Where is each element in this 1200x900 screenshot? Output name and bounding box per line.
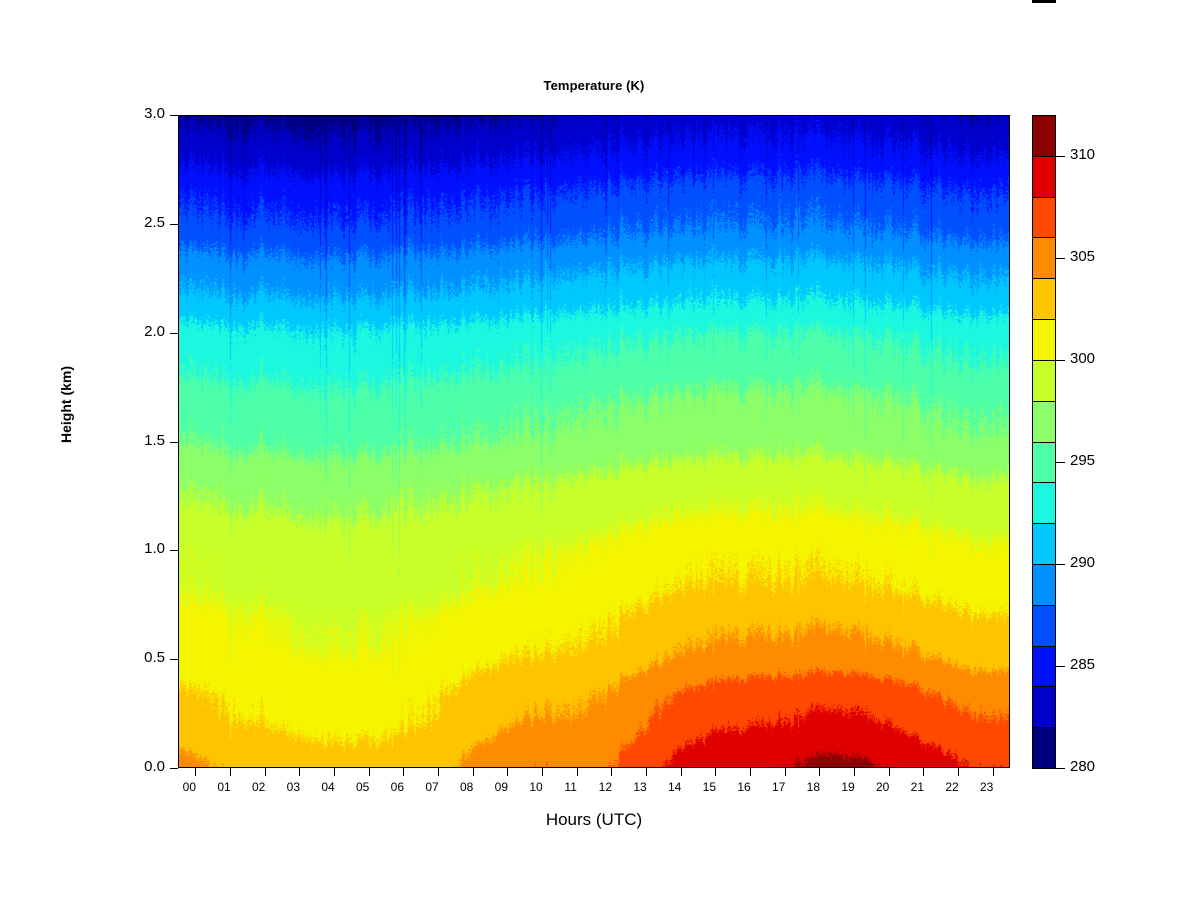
colorbar-band xyxy=(1032,319,1056,361)
x-axis-tick xyxy=(230,768,231,776)
x-axis-tick-label: 03 xyxy=(287,780,300,794)
x-axis-tick xyxy=(750,768,751,776)
colorbar-tick-label: 310 xyxy=(1070,146,1095,163)
colorbar-tick xyxy=(1056,666,1065,667)
x-axis-tick-label: 21 xyxy=(911,780,924,794)
x-axis-tick xyxy=(923,768,924,776)
x-axis-tick-label: 11 xyxy=(564,780,576,794)
y-axis-title: Height (km) xyxy=(58,366,74,443)
top-edge-artifact xyxy=(1032,0,1056,3)
x-axis-tick-label: 17 xyxy=(772,780,785,794)
x-axis-tick xyxy=(542,768,543,776)
colorbar-tick xyxy=(1056,360,1065,361)
colorbar-tick xyxy=(1056,258,1065,259)
x-axis-tick xyxy=(993,768,994,776)
x-axis-tick-label: 06 xyxy=(391,780,404,794)
colorbar-tick xyxy=(1056,768,1065,769)
x-axis-tick-label: 01 xyxy=(217,780,230,794)
colorbar-band xyxy=(1032,442,1056,484)
x-axis-tick xyxy=(265,768,266,776)
colorbar-band xyxy=(1032,727,1056,769)
x-axis-tick-label: 04 xyxy=(321,780,334,794)
colorbar-tick-label: 300 xyxy=(1070,350,1095,367)
colorbar-band xyxy=(1032,646,1056,688)
x-axis-tick xyxy=(473,768,474,776)
figure-canvas: Temperature (K) 0.00.51.01.52.02.53.0 He… xyxy=(0,0,1200,900)
x-axis-tick-label: 18 xyxy=(807,780,820,794)
colorbar xyxy=(1032,115,1056,768)
x-axis-tick xyxy=(403,768,404,776)
colorbar-band xyxy=(1032,237,1056,279)
x-axis-tick xyxy=(785,768,786,776)
colorbar-tick xyxy=(1056,156,1065,157)
x-axis-tick-label: 07 xyxy=(425,780,438,794)
x-axis-tick xyxy=(819,768,820,776)
x-axis-tick-label: 09 xyxy=(495,780,508,794)
colorbar-tick xyxy=(1056,564,1065,565)
colorbar-tick-label: 290 xyxy=(1070,554,1095,571)
y-axis-tick xyxy=(170,659,178,660)
x-axis-tick xyxy=(369,768,370,776)
x-axis-title: Hours (UTC) xyxy=(178,810,1010,830)
colorbar-band xyxy=(1032,523,1056,565)
y-axis-tick xyxy=(170,224,178,225)
x-axis-tick-label: 22 xyxy=(945,780,958,794)
x-axis-tick-label: 16 xyxy=(737,780,750,794)
y-axis: 0.00.51.01.52.02.53.0 xyxy=(0,0,178,900)
x-axis-tick-label: 05 xyxy=(356,780,369,794)
y-axis-tick-label: 1.0 xyxy=(144,540,165,557)
x-axis-tick-label: 23 xyxy=(980,780,993,794)
colorbar-band xyxy=(1032,197,1056,239)
plot-title: Temperature (K) xyxy=(178,78,1010,93)
x-axis-tick xyxy=(889,768,890,776)
x-axis-tick xyxy=(611,768,612,776)
colorbar-band xyxy=(1032,482,1056,524)
x-axis-tick xyxy=(507,768,508,776)
y-axis-tick xyxy=(170,115,178,116)
colorbar-tick-label: 295 xyxy=(1070,452,1095,469)
x-axis-tick xyxy=(854,768,855,776)
x-axis-tick xyxy=(195,768,196,776)
x-axis-tick-label: 14 xyxy=(668,780,681,794)
colorbar-tick xyxy=(1056,462,1065,463)
colorbar-band xyxy=(1032,401,1056,443)
x-axis-tick xyxy=(715,768,716,776)
temperature-heatmap xyxy=(179,116,1009,767)
colorbar-tick-label: 285 xyxy=(1070,656,1095,673)
colorbar-band xyxy=(1032,115,1056,157)
y-axis-tick xyxy=(170,550,178,551)
x-axis-tick-label: 02 xyxy=(252,780,265,794)
x-axis-tick xyxy=(681,768,682,776)
x-axis-tick-label: 08 xyxy=(460,780,473,794)
y-axis-tick-label: 2.5 xyxy=(144,214,165,231)
x-axis-tick-label: 12 xyxy=(599,780,612,794)
colorbar-band xyxy=(1032,156,1056,198)
heatmap-plot-area xyxy=(178,115,1010,768)
colorbar-band xyxy=(1032,360,1056,402)
colorbar-tick-label: 280 xyxy=(1070,758,1095,775)
x-axis-tick xyxy=(958,768,959,776)
colorbar-band xyxy=(1032,278,1056,320)
x-axis-tick-label: 13 xyxy=(633,780,646,794)
x-axis-tick-label: 10 xyxy=(529,780,542,794)
x-axis-tick xyxy=(646,768,647,776)
y-axis-tick xyxy=(170,442,178,443)
colorbar-tick-label: 305 xyxy=(1070,248,1095,265)
y-axis-tick-label: 2.0 xyxy=(144,323,165,340)
colorbar-band xyxy=(1032,605,1056,647)
y-axis-tick-label: 0.5 xyxy=(144,649,165,666)
x-axis-tick-label: 19 xyxy=(841,780,854,794)
x-axis-tick-label: 00 xyxy=(183,780,196,794)
x-axis-tick-label: 15 xyxy=(703,780,716,794)
y-axis-tick xyxy=(170,333,178,334)
y-axis-tick-label: 1.5 xyxy=(144,432,165,449)
x-axis-tick xyxy=(577,768,578,776)
x-axis-tick-label: 20 xyxy=(876,780,889,794)
x-axis-tick xyxy=(334,768,335,776)
y-axis-tick-label: 3.0 xyxy=(144,105,165,122)
colorbar-band xyxy=(1032,564,1056,606)
colorbar-band xyxy=(1032,686,1056,728)
x-axis-tick xyxy=(299,768,300,776)
x-axis-tick xyxy=(438,768,439,776)
